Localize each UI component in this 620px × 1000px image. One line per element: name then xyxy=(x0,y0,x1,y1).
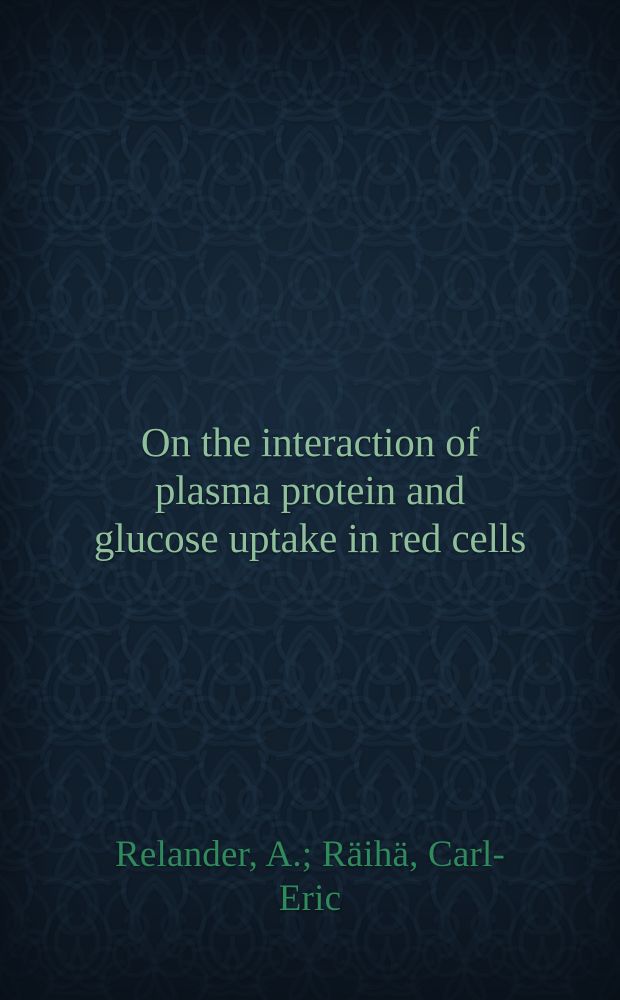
author-line-2: Eric xyxy=(26,877,594,921)
title-line-2: plasma protein and xyxy=(26,466,594,514)
cover-author: Relander, A.; Räihä, Carl- Eric xyxy=(0,833,620,921)
cover-title: On the interaction of plasma protein and… xyxy=(0,418,620,562)
author-line-1: Relander, A.; Räihä, Carl- xyxy=(26,833,594,877)
title-line-1: On the interaction of xyxy=(26,418,594,466)
title-line-3: glucose uptake in red cells xyxy=(26,514,594,562)
book-cover: On the interaction of plasma protein and… xyxy=(0,0,620,1000)
